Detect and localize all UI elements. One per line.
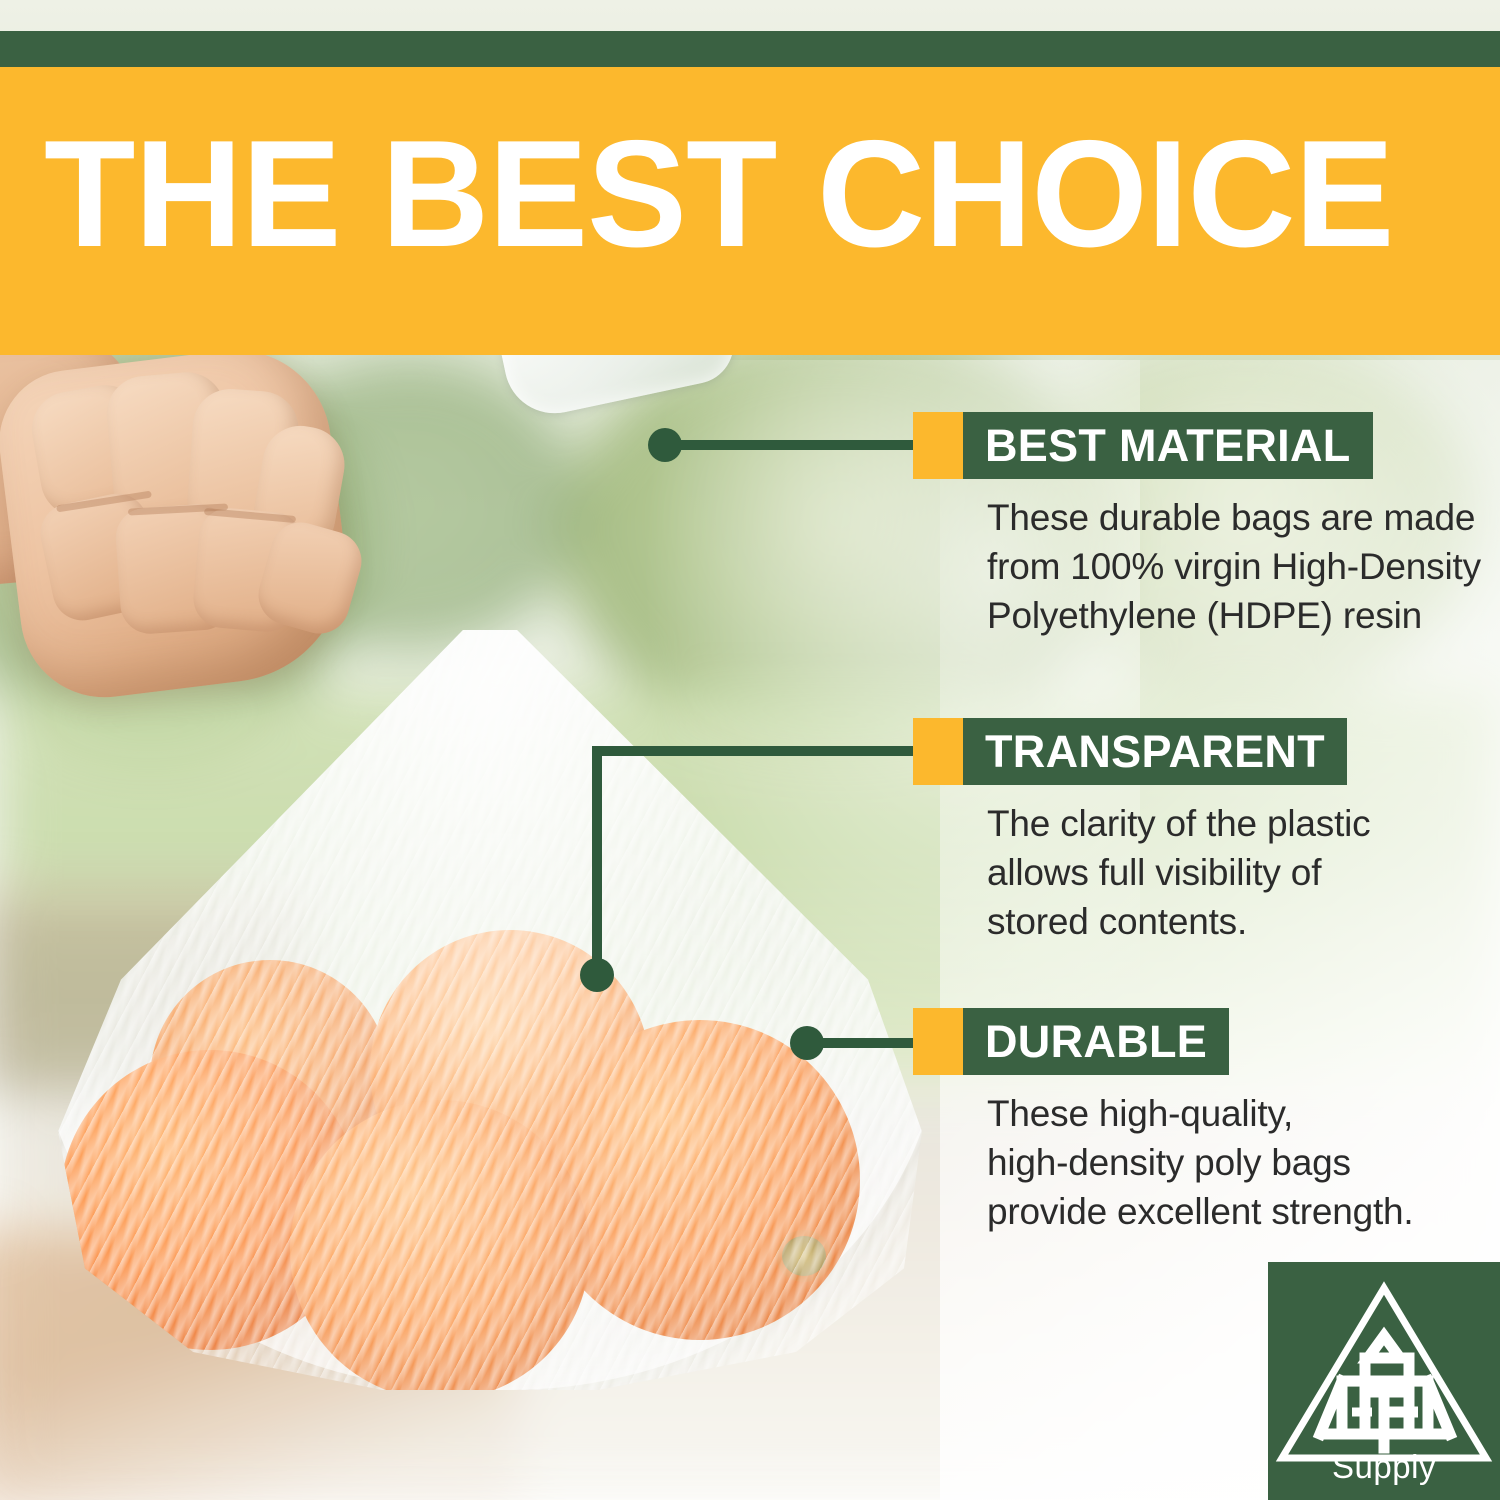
top-green-rule: [0, 31, 1500, 67]
infographic-canvas: THE BEST CHOICE BEST MATERIAL These dura…: [0, 0, 1500, 1500]
callout-body-durable: These high-quality, high-density poly ba…: [987, 1089, 1414, 1236]
brand-logo: Supply: [1268, 1262, 1500, 1500]
callout-line-best-material: [672, 440, 916, 450]
callout-accent-tab: [913, 718, 963, 785]
bag-fold-lines: [40, 630, 940, 1390]
callout-title-durable: DURABLE: [963, 1008, 1229, 1075]
callout-body-best-material: These durable bags are made from 100% vi…: [987, 493, 1481, 640]
callout-accent-tab: [913, 412, 963, 479]
callout-body-transparent: The clarity of the plastic allows full v…: [987, 799, 1370, 946]
callout-header-best-material: BEST MATERIAL: [913, 412, 1481, 479]
page-title: THE BEST CHOICE: [44, 112, 1443, 277]
callout-line-transparent-horizontal: [592, 746, 916, 756]
callout-accent-tab: [913, 1008, 963, 1075]
callout-durable: DURABLE These high-quality, high-density…: [913, 1008, 1414, 1236]
callout-transparent: TRANSPARENT The clarity of the plastic a…: [913, 718, 1370, 946]
callout-best-material: BEST MATERIAL These durable bags are mad…: [913, 412, 1481, 640]
callout-header-durable: DURABLE: [913, 1008, 1414, 1075]
plastic-bag: [0, 560, 1020, 1500]
logo-caption: Supply: [1268, 1448, 1500, 1486]
callout-title-transparent: TRANSPARENT: [963, 718, 1347, 785]
callout-title-best-material: BEST MATERIAL: [963, 412, 1373, 479]
callout-line-transparent-vertical: [592, 746, 602, 972]
callout-line-durable: [812, 1038, 916, 1048]
callout-header-transparent: TRANSPARENT: [913, 718, 1370, 785]
